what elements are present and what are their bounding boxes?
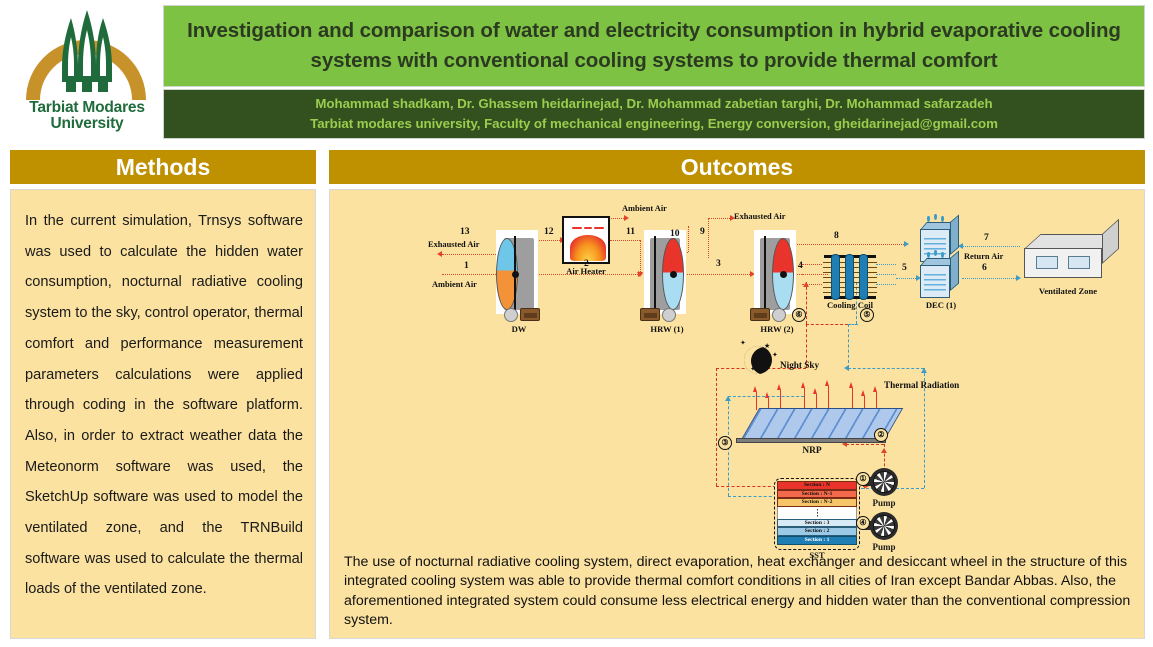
stream-num-13: 13 bbox=[460, 226, 470, 237]
methods-section-header: Methods bbox=[10, 150, 316, 184]
flow-line-13 bbox=[442, 254, 498, 255]
sst-section-n: Section : N bbox=[777, 481, 857, 490]
flow-line-7 bbox=[962, 246, 1020, 247]
dec1-drop-1 bbox=[927, 252, 930, 258]
stream-num-5: 5 bbox=[902, 262, 907, 273]
loop-red-coil-drop bbox=[806, 282, 807, 324]
flow-arrow-13 bbox=[437, 251, 442, 257]
cooling-coil-label: Cooling Coil bbox=[814, 300, 886, 310]
circled-num-5: ⑤ bbox=[860, 308, 874, 322]
rad-arrow-5 bbox=[849, 382, 853, 388]
thermal-radiation-label: Thermal Radiation bbox=[884, 380, 959, 390]
zone-window-1 bbox=[1036, 256, 1058, 269]
dec1-label: DEC (1) bbox=[908, 300, 974, 310]
hrw1-hub bbox=[670, 271, 677, 278]
dw-motor bbox=[520, 308, 540, 321]
poster-root: Tarbiat Modares University Investigation… bbox=[0, 0, 1153, 647]
loop-blue-right bbox=[848, 368, 924, 369]
hrw1-motor bbox=[640, 308, 660, 321]
dec2-drop-2 bbox=[934, 214, 937, 220]
sst-section-1: Section : 1 bbox=[777, 536, 857, 545]
pump-top-unit bbox=[870, 468, 904, 498]
university-logo: Tarbiat Modares University bbox=[12, 4, 162, 142]
circled-num-3: ③ bbox=[718, 436, 732, 450]
loop-red-to-sst bbox=[716, 486, 776, 487]
cooling-coil-unit bbox=[828, 254, 872, 300]
rad-stem-5 bbox=[852, 388, 853, 410]
coil-in-a bbox=[802, 264, 822, 265]
loop-blue-riser bbox=[848, 324, 849, 368]
flow-line-10-drop bbox=[688, 226, 689, 252]
stream-num-4: 4 bbox=[798, 260, 803, 271]
stream-num-11: 11 bbox=[626, 226, 635, 237]
dec2-drop-1 bbox=[927, 216, 930, 222]
authors-bar: Mohammad shadkam, Dr. Ghassem heidarinej… bbox=[163, 89, 1145, 139]
page-title: Investigation and comparison of water an… bbox=[184, 16, 1124, 76]
logo-line-2: University bbox=[12, 116, 162, 132]
logo-line-1: Tarbiat Modares bbox=[29, 99, 145, 116]
heater-coil bbox=[570, 223, 606, 233]
circled-num-4: ④ bbox=[856, 516, 870, 530]
coil-tube-2 bbox=[845, 254, 854, 300]
loop-red-arrow-up bbox=[803, 282, 809, 287]
stream-num-12: 12 bbox=[544, 226, 554, 237]
stream-num-2: 2 bbox=[584, 258, 589, 269]
star-icon-2: ✦ bbox=[772, 352, 778, 359]
loop-red-far-left bbox=[716, 368, 717, 486]
methods-panel: In the current simulation, Trnsys softwa… bbox=[10, 189, 316, 639]
hrw2-belt bbox=[764, 236, 766, 314]
loop-red-coil-bottom bbox=[806, 324, 848, 325]
coil-out-a bbox=[876, 264, 896, 265]
outcomes-section-title: Outcomes bbox=[681, 154, 793, 180]
logo-wordmark: Tarbiat Modares University bbox=[12, 100, 162, 132]
rad-stem-3 bbox=[804, 388, 805, 410]
rad-stem-1 bbox=[756, 392, 757, 410]
flow-line-11-drop bbox=[640, 240, 641, 274]
dec1-drop-3 bbox=[941, 252, 944, 258]
stream-num-8: 8 bbox=[834, 230, 839, 241]
rad-arrow-1 bbox=[753, 386, 757, 392]
hrw2-label: HRW (2) bbox=[744, 324, 810, 334]
coil-out-c bbox=[876, 284, 896, 285]
exhausted-air-top-label: Exhausted Air bbox=[734, 212, 785, 222]
rad-arrow-8 bbox=[813, 388, 817, 394]
tarbiat-modares-tulip-logo bbox=[12, 4, 162, 104]
coil-in-b bbox=[802, 274, 822, 275]
methods-body-text: In the current simulation, Trnsys softwa… bbox=[25, 206, 303, 605]
affiliation-line: Tarbiat modares university, Faculty of m… bbox=[310, 114, 998, 134]
flow-line-3 bbox=[684, 274, 752, 275]
flow-line-11 bbox=[610, 240, 640, 241]
sst-section-3: Section : 3 bbox=[777, 519, 857, 528]
sst-ellipsis bbox=[777, 507, 857, 519]
moon-icon bbox=[744, 346, 772, 374]
pump-bottom-label: Pump bbox=[864, 542, 904, 552]
circled-num-6: ⑥ bbox=[792, 308, 806, 322]
flow-arrow-8 bbox=[904, 241, 909, 247]
loop-red-nrp-out bbox=[846, 444, 884, 445]
star-icon-5: ✦ bbox=[740, 340, 746, 347]
rad-stem-4 bbox=[828, 386, 829, 410]
poster-header: Tarbiat Modares University Investigation… bbox=[0, 0, 1153, 142]
nrp-base-edge bbox=[736, 438, 886, 443]
flow-line-1 bbox=[442, 274, 498, 275]
ambient-air-left-label: Ambient Air bbox=[432, 280, 477, 290]
dw-label: DW bbox=[488, 324, 550, 334]
star-icon-4: ✦ bbox=[750, 366, 756, 373]
rad-arrow-4 bbox=[825, 380, 829, 386]
poster-title-bar: Investigation and comparison of water an… bbox=[163, 5, 1145, 87]
pump-top-label: Pump bbox=[864, 498, 904, 508]
star-icon-3: ★ bbox=[760, 359, 766, 366]
desiccant-wheel bbox=[496, 238, 542, 310]
outcomes-conclusion-text: The use of nocturnal radiative cooling s… bbox=[344, 553, 1132, 631]
hrw1-pulley bbox=[662, 308, 676, 322]
rad-stem-2 bbox=[780, 390, 781, 410]
flow-line-6 bbox=[962, 278, 1018, 279]
flow-line-9-riser bbox=[708, 218, 709, 258]
heat-recovery-wheel-1 bbox=[642, 238, 688, 310]
coil-tube-3 bbox=[859, 254, 868, 300]
stream-num-9: 9 bbox=[700, 226, 705, 237]
loop-blue-arrow-up bbox=[921, 368, 927, 373]
rad-arrow-6 bbox=[873, 386, 877, 392]
nrp-label: NRP bbox=[772, 446, 852, 456]
hrw1-label: HRW (1) bbox=[634, 324, 700, 334]
stream-num-1: 1 bbox=[464, 260, 469, 271]
rad-arrow-7 bbox=[765, 392, 769, 398]
rad-arrow-3 bbox=[801, 382, 805, 388]
pump-bottom-unit bbox=[870, 512, 904, 542]
flow-line-5 bbox=[896, 278, 918, 279]
sst-section-2: Section : 2 bbox=[777, 527, 857, 536]
ventilated-zone-label: Ventilated Zone bbox=[1012, 286, 1124, 296]
pump-top-impeller bbox=[873, 471, 895, 493]
authors-list: Mohammad shadkam, Dr. Ghassem heidarinej… bbox=[315, 94, 992, 114]
dec1-side bbox=[950, 250, 959, 291]
loop-blue-coil-join bbox=[848, 324, 858, 325]
flow-arrow-6 bbox=[1016, 275, 1021, 281]
loop-red-pump-arrow bbox=[881, 448, 887, 453]
sst-section-n1: Section : N-1 bbox=[777, 490, 857, 499]
exhausted-air-left-label: Exhausted Air bbox=[428, 240, 479, 250]
sst-section-n2: Section : N-2 bbox=[777, 498, 857, 507]
circled-num-2: ② bbox=[874, 428, 888, 442]
stratified-storage-tank: Section : N Section : N-1 Section : N-2 … bbox=[774, 478, 860, 550]
dec2-side bbox=[950, 214, 959, 255]
stream-num-3: 3 bbox=[716, 258, 721, 269]
dec2-drop-3 bbox=[941, 216, 944, 222]
rad-arrow-9 bbox=[861, 390, 865, 396]
rad-arrow-2 bbox=[777, 384, 781, 390]
dec1-media bbox=[924, 274, 946, 292]
loop-blue-arrow bbox=[844, 365, 849, 371]
outcomes-section-header: Outcomes bbox=[329, 150, 1145, 184]
heat-recovery-wheel-2 bbox=[752, 238, 798, 310]
ventilated-zone-unit bbox=[1024, 234, 1120, 280]
coil-out-b bbox=[876, 274, 896, 275]
coil-tube-1 bbox=[831, 254, 840, 300]
star-icon-1: ★ bbox=[764, 343, 770, 350]
flow-arrow-heater-exhaust bbox=[624, 215, 629, 221]
outcomes-panel: DW Air Heater HRW (1) bbox=[329, 189, 1145, 639]
circled-num-1: ① bbox=[856, 472, 870, 486]
hrw2-hub bbox=[780, 271, 787, 278]
night-sky-label: Night Sky bbox=[780, 360, 819, 370]
hrw2-pulley bbox=[772, 308, 786, 322]
flow-line-9 bbox=[708, 218, 732, 219]
air-heater-unit bbox=[562, 216, 610, 264]
dec-1-unit bbox=[920, 258, 960, 298]
hvac-system-diagram: DW Air Heater HRW (1) bbox=[336, 196, 1138, 548]
hrw1-belt bbox=[654, 236, 656, 314]
zone-side bbox=[1102, 219, 1119, 264]
stream-num-6: 6 bbox=[982, 262, 987, 273]
dec1-drop-2 bbox=[934, 250, 937, 256]
hrw2-motor bbox=[750, 308, 770, 321]
zone-window-2 bbox=[1068, 256, 1090, 269]
return-air-label: Return Air bbox=[964, 252, 1003, 262]
dw-pulley bbox=[504, 308, 518, 322]
pump-bottom-impeller bbox=[873, 515, 895, 537]
methods-section-title: Methods bbox=[116, 154, 211, 180]
dw-hub bbox=[512, 271, 519, 278]
ambient-air-top-label: Ambient Air bbox=[622, 204, 667, 214]
stream-num-7: 7 bbox=[984, 232, 989, 243]
stream-num-10: 10 bbox=[670, 228, 680, 239]
